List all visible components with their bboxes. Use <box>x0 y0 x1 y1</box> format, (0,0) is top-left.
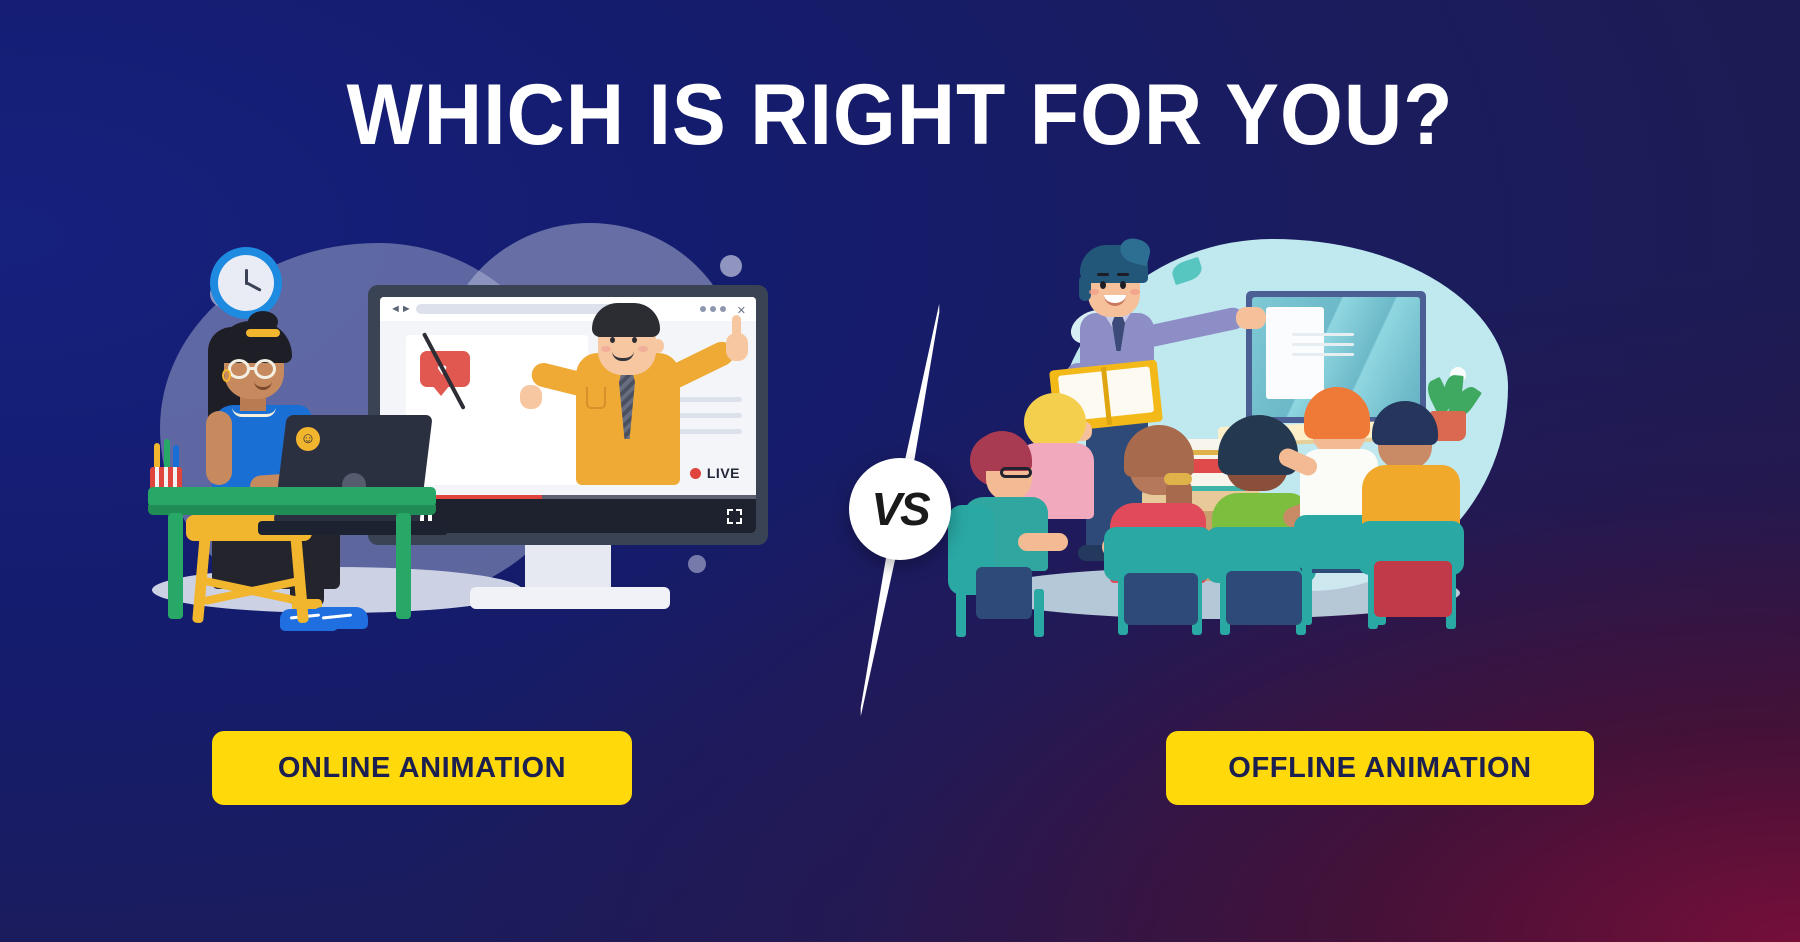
browser-toolbar: ◄► ✕ <box>380 297 756 321</box>
live-label: LIVE <box>707 465 740 481</box>
teacher-cheek <box>1089 289 1099 295</box>
teacher-eye <box>1120 281 1126 289</box>
versus-badge: VS <box>849 458 951 560</box>
offline-panel <box>960 215 1660 685</box>
poster-canvas: WHICH IS RIGHT FOR YOU? ◄► <box>0 0 1800 942</box>
decorative-dot <box>688 555 706 573</box>
teacher-right-hand <box>726 333 748 361</box>
hair-tie <box>1164 473 1192 485</box>
glasses-bridge <box>250 367 256 370</box>
glasses-icon <box>1000 467 1032 478</box>
student-legs <box>1374 561 1452 617</box>
glasses-icon <box>228 359 250 379</box>
online-panel: ◄► ✕ ♥ LIVE <box>140 215 840 685</box>
teacher-eye <box>610 337 615 343</box>
teacher-hair <box>592 303 660 337</box>
versus-divider: VS <box>828 300 972 720</box>
live-dot-icon <box>690 468 701 479</box>
hair-band <box>246 329 280 337</box>
teacher-eye <box>1100 281 1106 289</box>
browser-menu-dots-icon[interactable] <box>700 306 726 312</box>
pointing-finger <box>732 315 741 337</box>
student-legs <box>1226 571 1302 625</box>
chair-leg <box>1302 565 1312 625</box>
laptop-base <box>258 521 448 535</box>
desk-leg <box>168 513 183 619</box>
online-animation-button[interactable]: ONLINE ANIMATION <box>212 731 632 805</box>
necklace <box>232 407 276 417</box>
online-learning-illustration: ◄► ✕ ♥ LIVE <box>140 215 840 685</box>
teacher-eyebrow <box>1117 273 1129 276</box>
teacher-right-hand <box>1236 307 1266 329</box>
teacher-eye <box>632 337 637 343</box>
desk-edge <box>148 505 436 515</box>
decorative-dot <box>720 255 742 277</box>
desk-top <box>148 487 436 507</box>
monitor-neck <box>525 545 611 591</box>
glasses-icon <box>254 359 276 379</box>
student-shoe <box>312 607 368 629</box>
pencil <box>164 439 170 469</box>
monitor-base <box>470 587 670 609</box>
shirt-pocket <box>586 387 606 409</box>
student-arm <box>1018 533 1068 551</box>
status-badge: LIVE <box>690 465 740 481</box>
teacher-cheek <box>1130 289 1140 295</box>
offline-classroom-illustration <box>960 215 1660 685</box>
student-hair <box>972 431 1032 471</box>
fullscreen-icon[interactable] <box>727 509 742 524</box>
teacher-sideburn <box>1079 275 1091 301</box>
monitor-screen: ◄► ✕ ♥ LIVE <box>380 297 756 533</box>
student-legs <box>976 567 1032 619</box>
teacher-left-hand <box>520 385 542 409</box>
smiley-sticker-icon: ☺ <box>296 427 320 451</box>
browser-arrows-icon[interactable]: ◄► <box>390 305 406 314</box>
board-text-lines <box>1292 333 1354 363</box>
earring <box>222 369 231 382</box>
offline-animation-button[interactable]: OFFLINE ANIMATION <box>1166 731 1594 805</box>
teacher-cheek <box>638 346 648 352</box>
versus-label: VS <box>871 482 928 536</box>
page-title: WHICH IS RIGHT FOR YOU? <box>54 70 1746 160</box>
teacher-eyebrow <box>1097 273 1109 276</box>
desk-leg <box>396 513 411 619</box>
like-bubble-tail <box>432 385 450 396</box>
chair-leg <box>1034 589 1044 637</box>
student-shoulder <box>206 411 232 485</box>
teacher-cheek <box>601 346 611 352</box>
video-progress-bar[interactable] <box>380 495 756 499</box>
student-legs <box>1124 573 1198 625</box>
